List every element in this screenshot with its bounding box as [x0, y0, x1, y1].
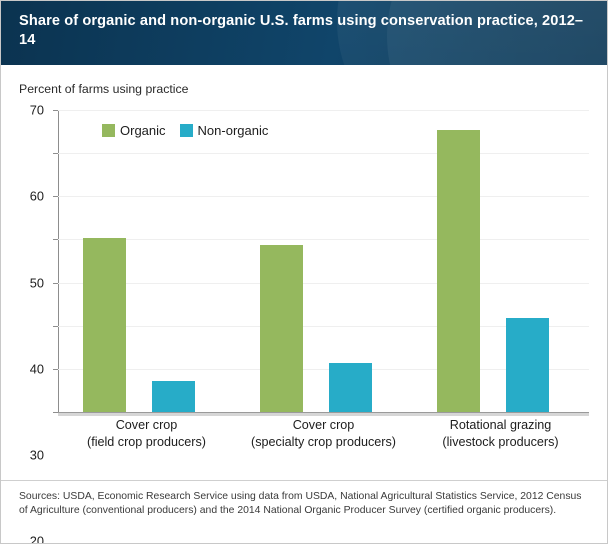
y-axis-tick: 10	[53, 369, 58, 370]
bar-nonorganic-1	[329, 363, 372, 412]
legend-label-nonorganic: Non-organic	[198, 123, 269, 138]
chart-legend: Organic Non-organic	[102, 123, 268, 138]
y-axis-tick-label: 40	[30, 361, 44, 376]
y-axis-tick-label: 20	[30, 534, 44, 544]
y-axis-tick: 60	[53, 153, 58, 154]
x-axis-category-label-line: Cover crop	[251, 417, 396, 434]
bar-nonorganic-2	[506, 318, 549, 412]
source-note: Sources: USDA, Economic Research Service…	[19, 490, 591, 519]
plot-area: 010203040506070	[58, 110, 589, 412]
y-axis-tick: 20	[53, 326, 58, 327]
bar-organic-0	[83, 238, 126, 412]
x-axis-category-label-line: Rotational grazing	[442, 417, 558, 434]
legend-item-nonorganic: Non-organic	[180, 123, 269, 138]
x-axis-category-label: Cover crop(specialty crop producers)	[251, 417, 396, 451]
bar-nonorganic-0	[152, 381, 195, 412]
chart-body: Percent of farms using practice Organic …	[1, 65, 607, 480]
bar-organic-2	[437, 130, 480, 412]
y-axis-tick-label: 50	[30, 275, 44, 290]
gridline	[58, 283, 589, 284]
gridline	[58, 153, 589, 154]
gridline	[58, 110, 589, 111]
legend-item-organic: Organic	[102, 123, 166, 138]
x-axis-category-label: Rotational grazing(livestock producers)	[442, 417, 558, 451]
x-axis-category-labels: Cover crop(field crop producers)Cover cr…	[58, 417, 589, 467]
y-axis-tick-label: 60	[30, 189, 44, 204]
gridline	[58, 239, 589, 240]
bar-organic-1	[260, 245, 303, 412]
x-axis-category-label-line: Cover crop	[87, 417, 206, 434]
page-title: Share of organic and non-organic U.S. fa…	[19, 12, 589, 50]
x-axis-category-label-line: (livestock producers)	[442, 434, 558, 451]
chart-card: Share of organic and non-organic U.S. fa…	[0, 0, 608, 544]
y-axis-tick: 50	[53, 196, 58, 197]
footer-divider	[1, 480, 607, 481]
x-axis-category-label-line: (specialty crop producers)	[251, 434, 396, 451]
x-axis-category-label-line: (field crop producers)	[87, 434, 206, 451]
legend-swatch-icon-nonorganic	[180, 124, 193, 137]
gridline	[58, 196, 589, 197]
x-axis-category-label: Cover crop(field crop producers)	[87, 417, 206, 451]
y-axis-tick-label: 30	[30, 448, 44, 463]
y-axis-tick: 40	[53, 239, 58, 240]
y-axis-tick: 0	[53, 412, 58, 413]
chart-header: Share of organic and non-organic U.S. fa…	[1, 1, 607, 65]
y-axis-line	[58, 110, 59, 412]
y-axis-tick: 70	[53, 110, 58, 111]
y-axis-tick: 30	[53, 283, 58, 284]
legend-label-organic: Organic	[120, 123, 166, 138]
plot-wrapper: 010203040506070 Cover crop(field crop pr…	[1, 65, 608, 480]
x-axis-baseline-shadow	[58, 413, 589, 416]
legend-swatch-icon-organic	[102, 124, 115, 137]
y-axis-tick-label: 70	[30, 103, 44, 118]
